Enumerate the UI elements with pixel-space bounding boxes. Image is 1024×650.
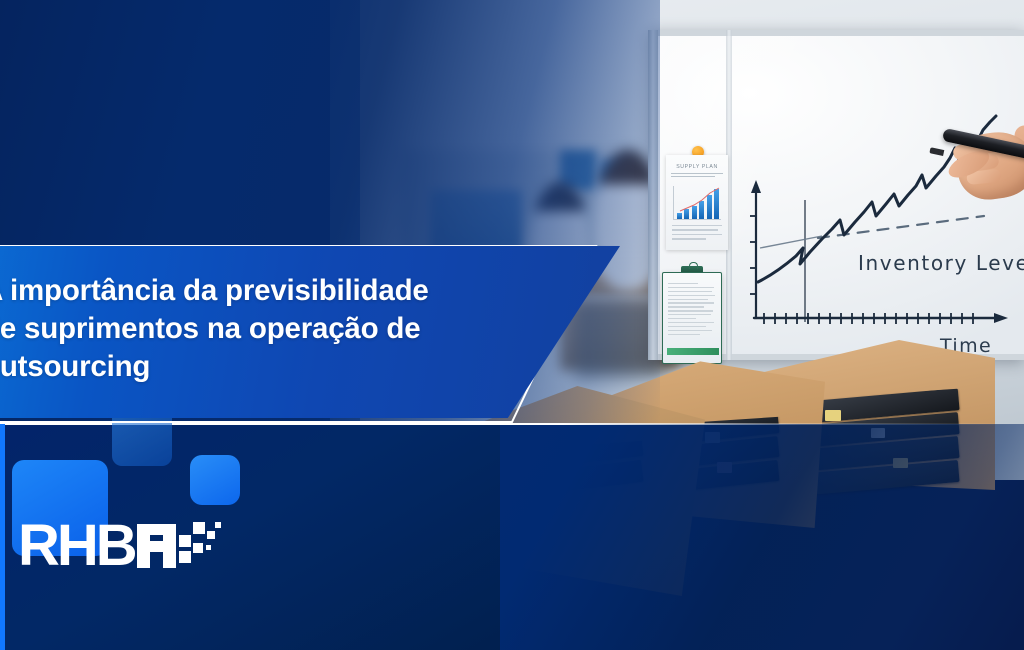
chart-baseline bbox=[760, 236, 822, 248]
pixel-a-icon bbox=[137, 518, 223, 574]
chart-y-axis bbox=[750, 180, 761, 318]
title-line-1: A importância da previsibilidade bbox=[0, 272, 542, 310]
title-line-2: de suprimentos na operação de bbox=[0, 310, 542, 348]
hand-icon bbox=[932, 102, 1024, 238]
title-line-3: outsourcing bbox=[0, 348, 542, 386]
logo[interactable]: RHB bbox=[18, 518, 223, 574]
page-title: A importância da previsibilidade de supr… bbox=[0, 272, 542, 386]
chart-label-inventory: Inventory Level bbox=[858, 251, 1024, 275]
left-edge-accent bbox=[0, 424, 5, 650]
banner-stage: SUPPLY PLAN bbox=[0, 0, 1024, 650]
logo-wordmark: RHB bbox=[18, 518, 135, 574]
decor-square-small bbox=[190, 455, 240, 505]
